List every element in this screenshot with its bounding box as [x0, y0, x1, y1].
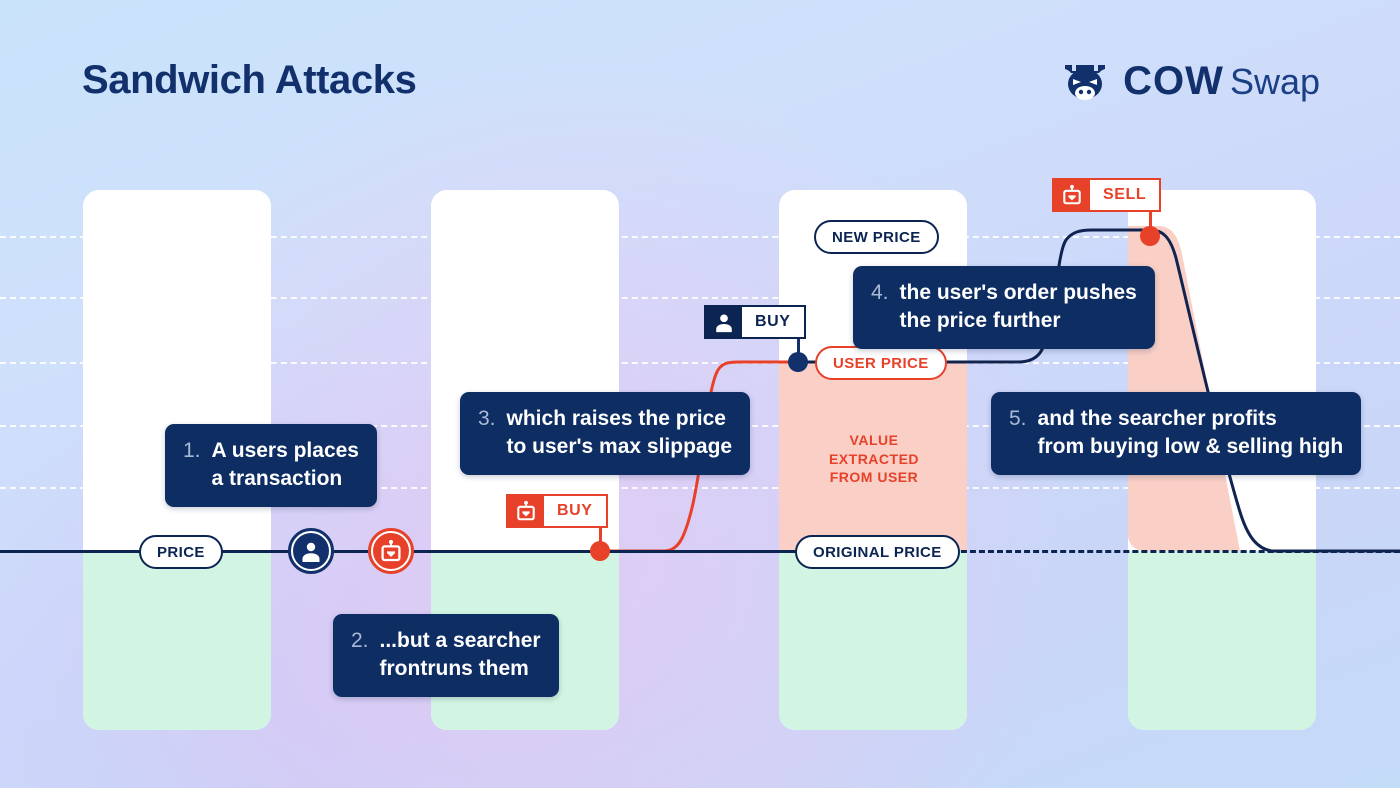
step-text-1: A users places a transaction	[212, 437, 359, 493]
person-icon	[706, 307, 742, 337]
value-extracted-label: VALUE EXTRACTED FROM USER	[814, 431, 934, 487]
step-callout-5: 5.and the searcher profits from buying l…	[991, 392, 1361, 475]
searcher-avatar	[368, 528, 414, 574]
column-1-lower-band	[83, 551, 271, 730]
robot-icon	[508, 496, 544, 526]
original-price-label: ORIGINAL PRICE	[795, 535, 960, 569]
step-number-3: 3.	[478, 405, 496, 433]
user-buy-tag: BUY	[704, 305, 806, 339]
brand-wordmark: COW Swap	[1123, 59, 1320, 104]
step-number-2: 2.	[351, 627, 369, 655]
user-buy-label: BUY	[742, 307, 804, 337]
step-callout-2: 2....but a searcher frontruns them	[333, 614, 559, 697]
new-price-label: NEW PRICE	[814, 220, 939, 254]
page-title: Sandwich Attacks	[82, 58, 416, 103]
searcher-sell-tag: SELL	[1052, 178, 1161, 212]
robot-icon	[1054, 180, 1090, 210]
user-price-label: USER PRICE	[815, 346, 947, 380]
searcher-buy-label: BUY	[544, 496, 606, 526]
brand-logo: COW Swap	[1059, 55, 1320, 107]
robot-icon	[371, 531, 411, 571]
infographic-canvas: BUYBUYSELL PRICENEW PRICEUSER PRICEORIGI…	[0, 0, 1400, 788]
searcher-buy-tag: BUY	[506, 494, 608, 528]
person-icon	[291, 531, 331, 571]
price-label: PRICE	[139, 535, 223, 569]
step-number-4: 4.	[871, 279, 889, 307]
brand-swap-text: Swap	[1230, 61, 1320, 103]
step-callout-3: 3.which raises the price to user's max s…	[460, 392, 750, 475]
searcher-sell-stem	[1149, 212, 1152, 234]
column-4-lower-band	[1128, 551, 1316, 730]
step-callout-4: 4.the user's order pushes the price furt…	[853, 266, 1155, 349]
step-text-2: ...but a searcher frontruns them	[380, 627, 541, 683]
step-number-1: 1.	[183, 437, 201, 465]
original-price-dashed-line	[600, 550, 1400, 553]
column-3-lower-band	[779, 551, 967, 730]
step-callout-1: 1.A users places a transaction	[165, 424, 377, 507]
step-number-5: 5.	[1009, 405, 1027, 433]
step-text-4: the user's order pushes the price furthe…	[900, 279, 1137, 335]
searcher-sell-label: SELL	[1090, 180, 1159, 210]
user-avatar	[288, 528, 334, 574]
searcher-buy-stem	[599, 528, 602, 551]
step-text-3: which raises the price to user's max sli…	[507, 405, 733, 461]
brand-cow-text: COW	[1123, 59, 1224, 104]
step-text-5: and the searcher profits from buying low…	[1038, 405, 1344, 461]
user-buy-stem	[797, 339, 800, 362]
cow-head-icon	[1059, 55, 1111, 107]
